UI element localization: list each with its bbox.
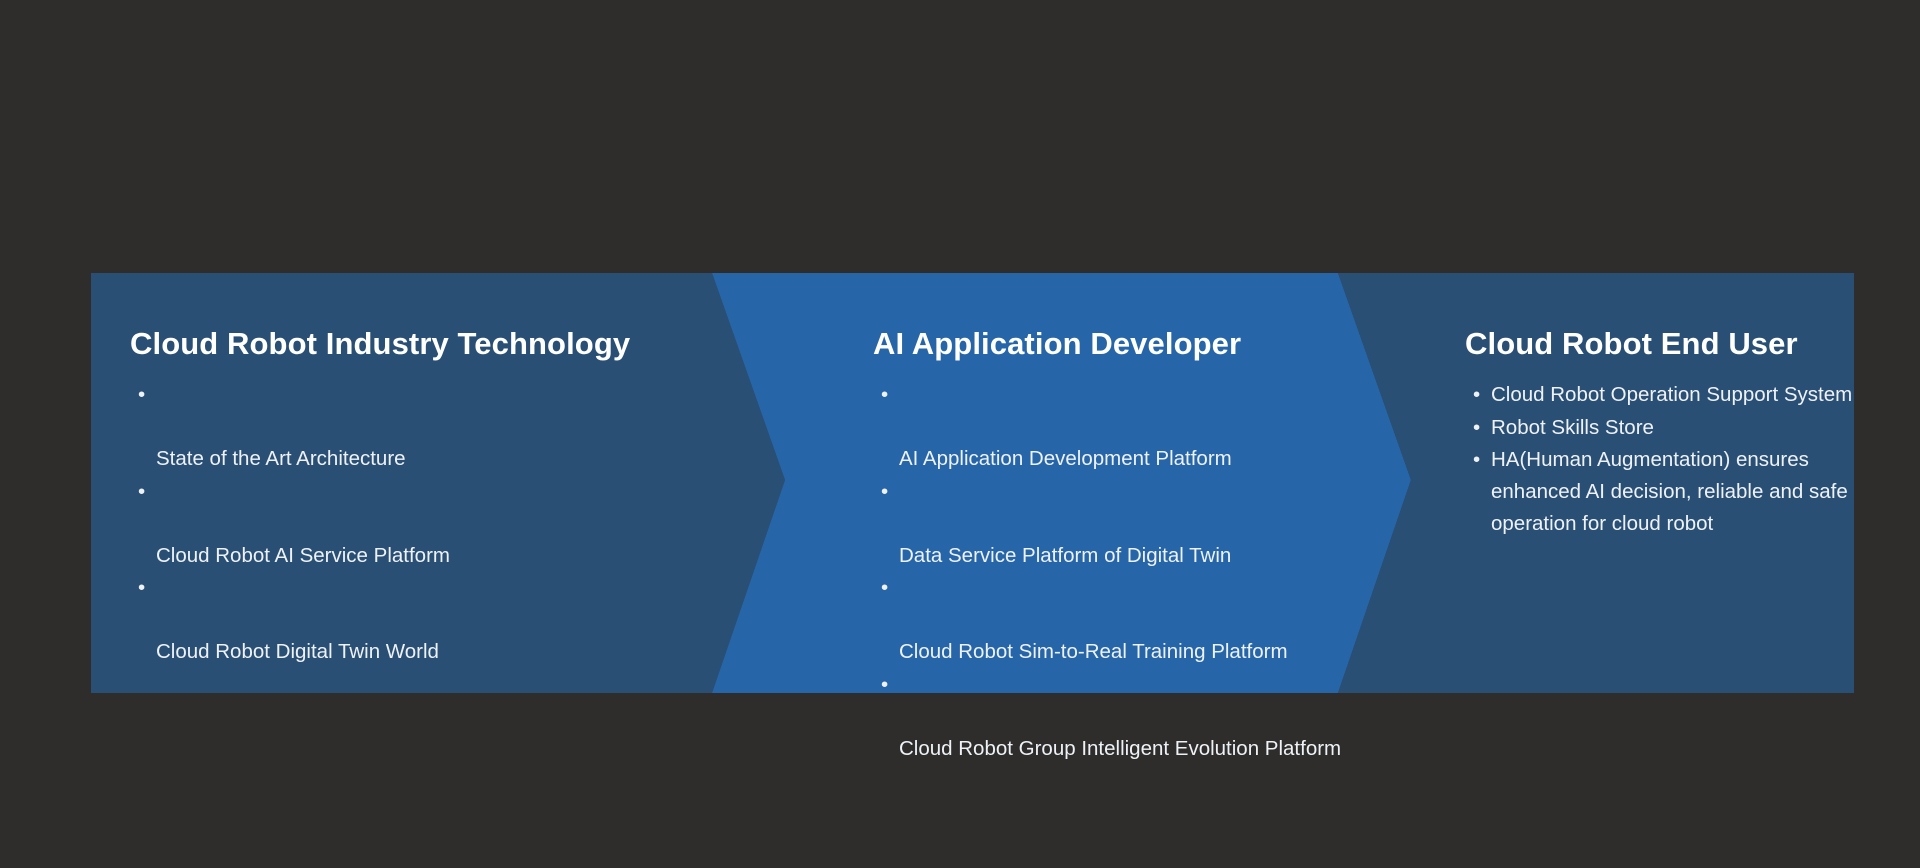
list-item: • State of the Art Architecture: [138, 379, 630, 475]
bullet-dot-icon: •: [881, 572, 888, 604]
panel-1-bullet-list: • State of the Art Architecture • Cloud …: [138, 379, 630, 668]
bullet-dot-icon: •: [1473, 379, 1480, 411]
list-item: • Cloud Robot AI Service Platform: [138, 476, 630, 572]
list-item-label: AI Application Development Platform: [899, 447, 1232, 470]
bullet-dot-icon: •: [881, 476, 888, 508]
list-item-label: HA(Human Augmentation) ensures enhanced …: [1491, 448, 1848, 535]
bullet-dot-icon: •: [138, 572, 145, 604]
list-item: • AI Application Development Platform: [881, 379, 1341, 475]
list-item-label: Cloud Robot Operation Support System: [1491, 383, 1852, 406]
list-item: • Cloud Robot Sim-to-Real Training Platf…: [881, 572, 1341, 668]
panel-3-title: Cloud Robot End User: [1465, 326, 1854, 362]
bullet-dot-icon: •: [138, 379, 145, 411]
panel-3-bullet-list: • Cloud Robot Operation Support System •…: [1473, 379, 1854, 540]
list-item-label: Cloud Robot Group Intelligent Evolution …: [899, 737, 1341, 760]
panel-2-bullet-list: • AI Application Development Platform • …: [881, 379, 1341, 765]
panel-2-title: AI Application Developer: [873, 326, 1341, 362]
bullet-dot-icon: •: [1473, 412, 1480, 444]
list-item-label: Cloud Robot AI Service Platform: [156, 544, 450, 567]
list-item-label: Robot Skills Store: [1491, 416, 1654, 439]
bullet-dot-icon: •: [881, 379, 888, 411]
list-item: • Data Service Platform of Digital Twin: [881, 476, 1341, 572]
panel-1-title: Cloud Robot Industry Technology: [130, 326, 630, 362]
panel-ai-application-developer: AI Application Developer • AI Applicatio…: [803, 273, 1429, 693]
panel-cloud-robot-industry-technology: Cloud Robot Industry Technology • State …: [91, 273, 803, 693]
panel-cloud-robot-end-user: Cloud Robot End User • Cloud Robot Opera…: [1429, 273, 1854, 693]
list-item-label: State of the Art Architecture: [156, 447, 406, 470]
bullet-dot-icon: •: [138, 476, 145, 508]
list-item-label: Cloud Robot Sim-to-Real Training Platfor…: [899, 640, 1288, 663]
list-item-label: Data Service Platform of Digital Twin: [899, 544, 1231, 567]
list-item-label: Cloud Robot Digital Twin World: [156, 640, 439, 663]
chevron-banner: Cloud Robot Industry Technology • State …: [91, 273, 1854, 693]
list-item: • Cloud Robot Group Intelligent Evolutio…: [881, 669, 1341, 765]
bullet-dot-icon: •: [1473, 444, 1480, 476]
list-item: • Robot Skills Store: [1473, 412, 1854, 444]
bullet-dot-icon: •: [881, 669, 888, 701]
list-item: • Cloud Robot Operation Support System: [1473, 379, 1854, 411]
list-item: • Cloud Robot Digital Twin World: [138, 572, 630, 668]
list-item: • HA(Human Augmentation) ensures enhance…: [1473, 444, 1854, 540]
